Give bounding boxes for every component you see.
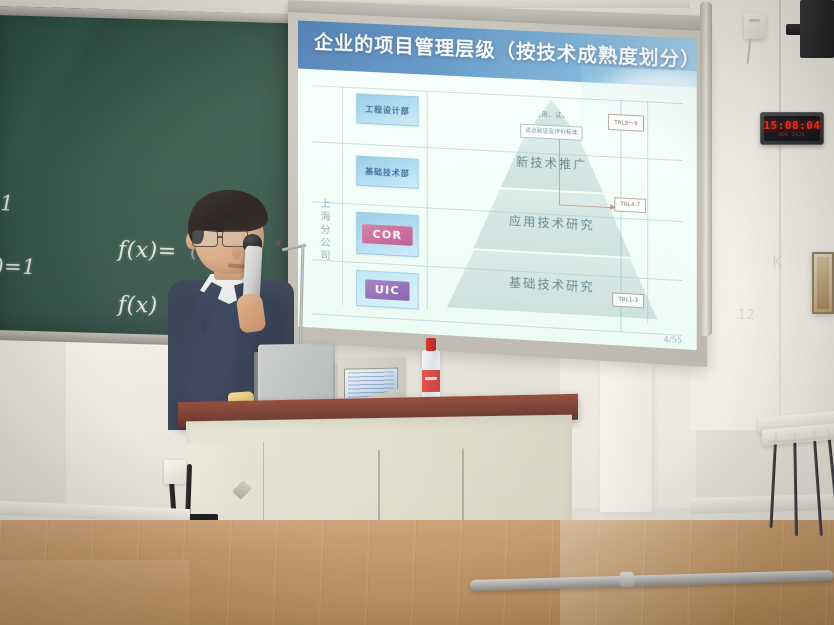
- wall-pillar: [600, 352, 652, 512]
- pyramid-layer-upper: 新技术推广: [501, 133, 603, 193]
- bottle-label: [422, 370, 440, 392]
- lower-left-wall-shadow: [0, 332, 66, 512]
- pyramid-label-middle: 应用技术研究: [509, 211, 595, 233]
- chair-leg-2: [793, 432, 798, 536]
- wall-picture-frame: [812, 252, 834, 314]
- water-bottle[interactable]: [422, 338, 440, 404]
- dept-box-uic: UIC: [356, 270, 418, 310]
- pyramid-layer-middle: 应用技术研究: [473, 188, 630, 257]
- chalk-line-1: -1)=1: [0, 253, 36, 279]
- glasses-lens-left-icon: [192, 230, 218, 247]
- monitor-content-lines: [348, 372, 394, 401]
- presentation-slide: 企业的项目管理层级（按技术成熟度划分） 上海分公司 工程设计部: [298, 20, 697, 350]
- wall-seam: [779, 0, 781, 430]
- trl-box-1-3: TRL1-3: [612, 292, 644, 308]
- slide-body: 上海分公司 工程设计部 基础技术部 COR UIC: [298, 68, 697, 350]
- dept-box-basic-tech: 基础技术部: [356, 156, 418, 189]
- wall-scuff: K: [772, 252, 783, 271]
- pyramid-label-base: 基础技术研究: [509, 273, 595, 295]
- callout-pilot-validation: 试点验证及评价标准: [520, 124, 583, 142]
- pyramid-label-upper: 新技术推广: [516, 152, 588, 173]
- chalk-line-0: =1: [0, 191, 14, 216]
- slide-page-number: 4/55: [664, 335, 683, 345]
- bag-hook: [164, 460, 186, 484]
- trl-box-8-9: TRL8～9: [608, 114, 644, 132]
- chair-leg-4: [826, 424, 834, 536]
- dept-box-cor: COR: [356, 212, 418, 258]
- clock-date: MON 2024: [779, 133, 805, 138]
- dept-badge-cor: COR: [362, 224, 412, 246]
- screen-border: 企业的项目管理层级（按技术成熟度划分） 上海分公司 工程设计部: [288, 12, 707, 367]
- classroom-scene: K 12 =1 -1)=1 f(x)= f(x) (x) 15:08:04 MO…: [0, 0, 834, 625]
- bottle-cap: [426, 338, 436, 351]
- grid-col-left: [342, 87, 343, 306]
- wall-sensor-icon: [744, 13, 766, 39]
- chair-leg-3: [812, 428, 823, 536]
- laptop[interactable]: [258, 343, 335, 405]
- chalk-line-3: f(x): [118, 292, 158, 318]
- rail-joint: [620, 572, 634, 587]
- presenter-hand: [235, 292, 266, 333]
- wall-scuff-2: 12: [738, 308, 755, 323]
- wall-speaker-icon: [800, 0, 834, 58]
- projection-screen: 企业的项目管理层级（按技术成熟度划分） 上海分公司 工程设计部: [288, 12, 707, 367]
- grid-col-mid: [427, 91, 428, 310]
- floor-left-section: [0, 560, 190, 625]
- dept-box-engineering: 工程设计部: [356, 93, 418, 126]
- slide-side-label: 上海分公司: [316, 197, 331, 263]
- glasses-bridge: [217, 236, 223, 238]
- pyramid-layer-base: 基础技术研究: [447, 249, 658, 320]
- dept-badge-uic: UIC: [365, 279, 410, 301]
- connector-vertical-1: [559, 140, 560, 205]
- dept-label-basic-tech: 基础技术部: [365, 165, 409, 178]
- led-clock: 15:08:04 MON 2024: [760, 112, 824, 145]
- dept-label-engineering: 工程设计部: [365, 103, 409, 116]
- clock-face: 15:08:04 MON 2024: [764, 116, 820, 141]
- screen-roller: [700, 2, 712, 337]
- presenter-nose: [232, 244, 241, 260]
- pyramid-label-apex: 新技术应用、试点、推广: [515, 110, 588, 121]
- trl-box-4-7: TRL4-7: [614, 197, 646, 213]
- stacked-chairs: [752, 398, 834, 580]
- clock-time: 15:08:04: [764, 120, 821, 131]
